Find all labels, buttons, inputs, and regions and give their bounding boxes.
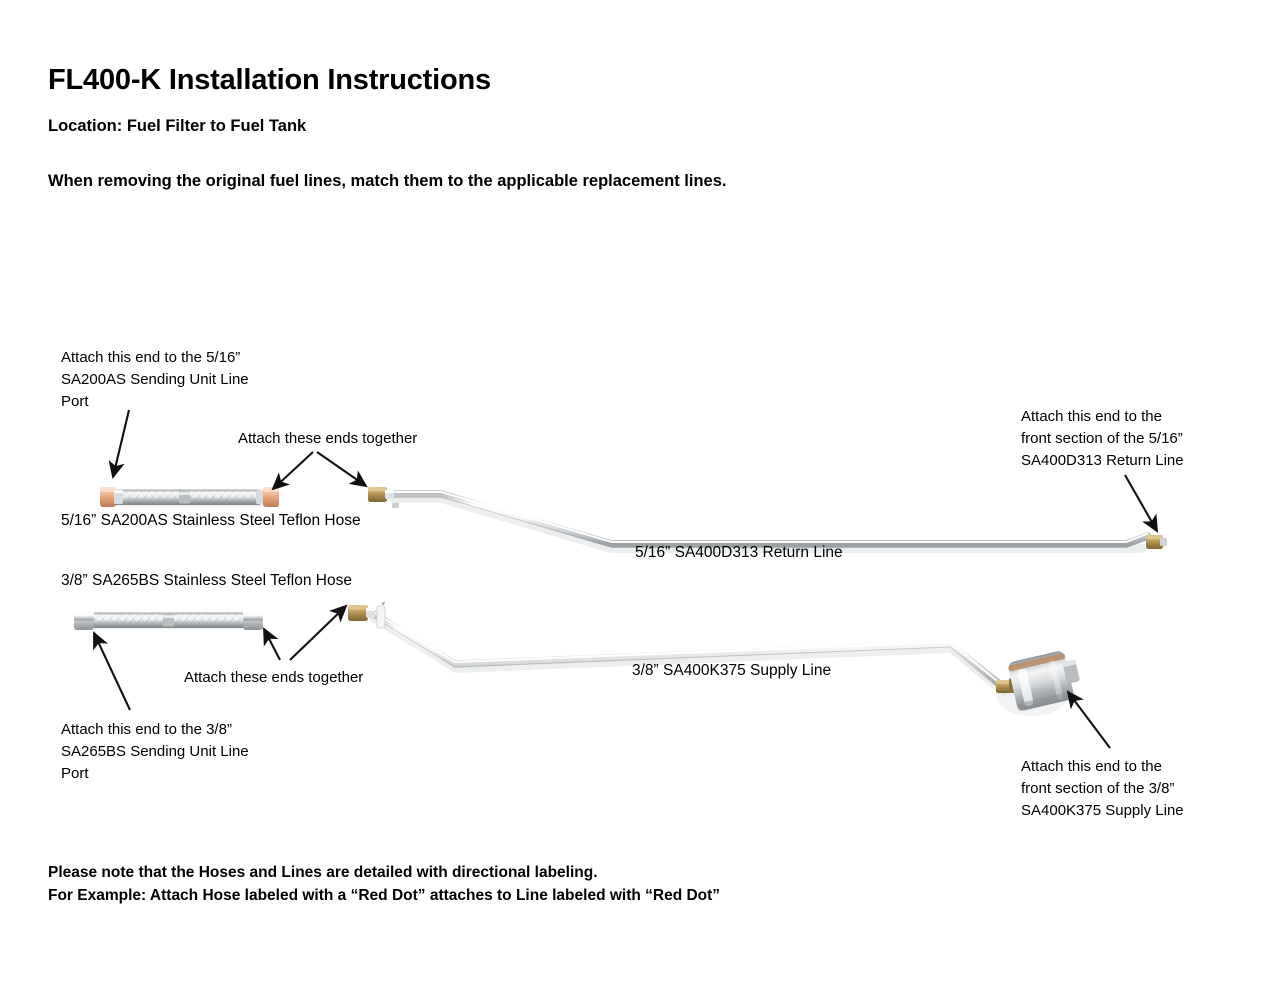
hose-lower-center-collar xyxy=(163,614,174,627)
arrow-upper-middle-right xyxy=(317,452,366,486)
callout-upper-left: Attach this end to the 5/16” SA200AS Sen… xyxy=(61,347,249,413)
supply-line-left-fitting xyxy=(348,605,375,621)
hose-upper-left-fitting xyxy=(100,487,123,507)
note-line-1: Please note that the Hoses and Lines are… xyxy=(48,864,598,882)
page-title: FL400-K Installation Instructions xyxy=(48,64,491,97)
part-label-supply-line: 3/8” SA400K375 Supply Line xyxy=(632,662,831,680)
filter-copper-band xyxy=(1008,653,1066,672)
part-label-hose-upper: 5/16” SA200AS Stainless Steel Teflon Hos… xyxy=(61,512,361,530)
arrow-lower-left xyxy=(94,633,130,710)
matching-instruction: When removing the original fuel lines, m… xyxy=(48,172,726,191)
return-line-left-fitting xyxy=(368,487,394,502)
braided-hose-upper-graphic xyxy=(100,487,279,507)
arrow-lower-middle-right xyxy=(290,606,346,660)
part-label-hose-lower: 3/8” SA265BS Stainless Steel Teflon Hose xyxy=(61,572,352,590)
callout-upper-middle: Attach these ends together xyxy=(238,428,417,450)
supply-line-tag xyxy=(377,601,385,628)
arrow-lower-right xyxy=(1068,692,1110,748)
braided-hose-lower-graphic xyxy=(74,611,263,630)
fuel-line-diagram xyxy=(0,0,1280,989)
callout-upper-right: Attach this end to the front section of … xyxy=(1021,406,1184,472)
fuel-filter-canister-graphic xyxy=(996,648,1084,716)
arrow-lower-middle-left xyxy=(264,629,280,660)
instruction-sheet-page: FL400-K Installation Instructions Locati… xyxy=(0,0,1280,989)
return-line-tag xyxy=(392,503,399,508)
arrow-upper-middle-left xyxy=(273,452,313,489)
hose-upper-center-collar xyxy=(179,491,190,504)
location-subtitle: Location: Fuel Filter to Fuel Tank xyxy=(48,117,306,136)
callout-lower-middle: Attach these ends together xyxy=(184,667,363,689)
filter-inlet-fitting xyxy=(996,678,1019,693)
part-label-return-line: 5/16” SA400D313 Return Line xyxy=(635,544,843,562)
callout-lower-left: Attach this end to the 3/8” SA265BS Send… xyxy=(61,719,249,785)
arrow-upper-left xyxy=(113,410,129,477)
callout-lower-right: Attach this end to the front section of … xyxy=(1021,756,1184,822)
hose-upper-right-fitting xyxy=(256,487,279,507)
return-line-right-fitting xyxy=(1146,535,1167,549)
note-line-2: For Example: Attach Hose labeled with a … xyxy=(48,887,720,905)
hose-lower-right-fitting xyxy=(243,611,263,630)
arrow-upper-right xyxy=(1125,475,1157,531)
hose-lower-left-fitting xyxy=(74,611,94,630)
return-line-graphic xyxy=(368,487,1167,549)
